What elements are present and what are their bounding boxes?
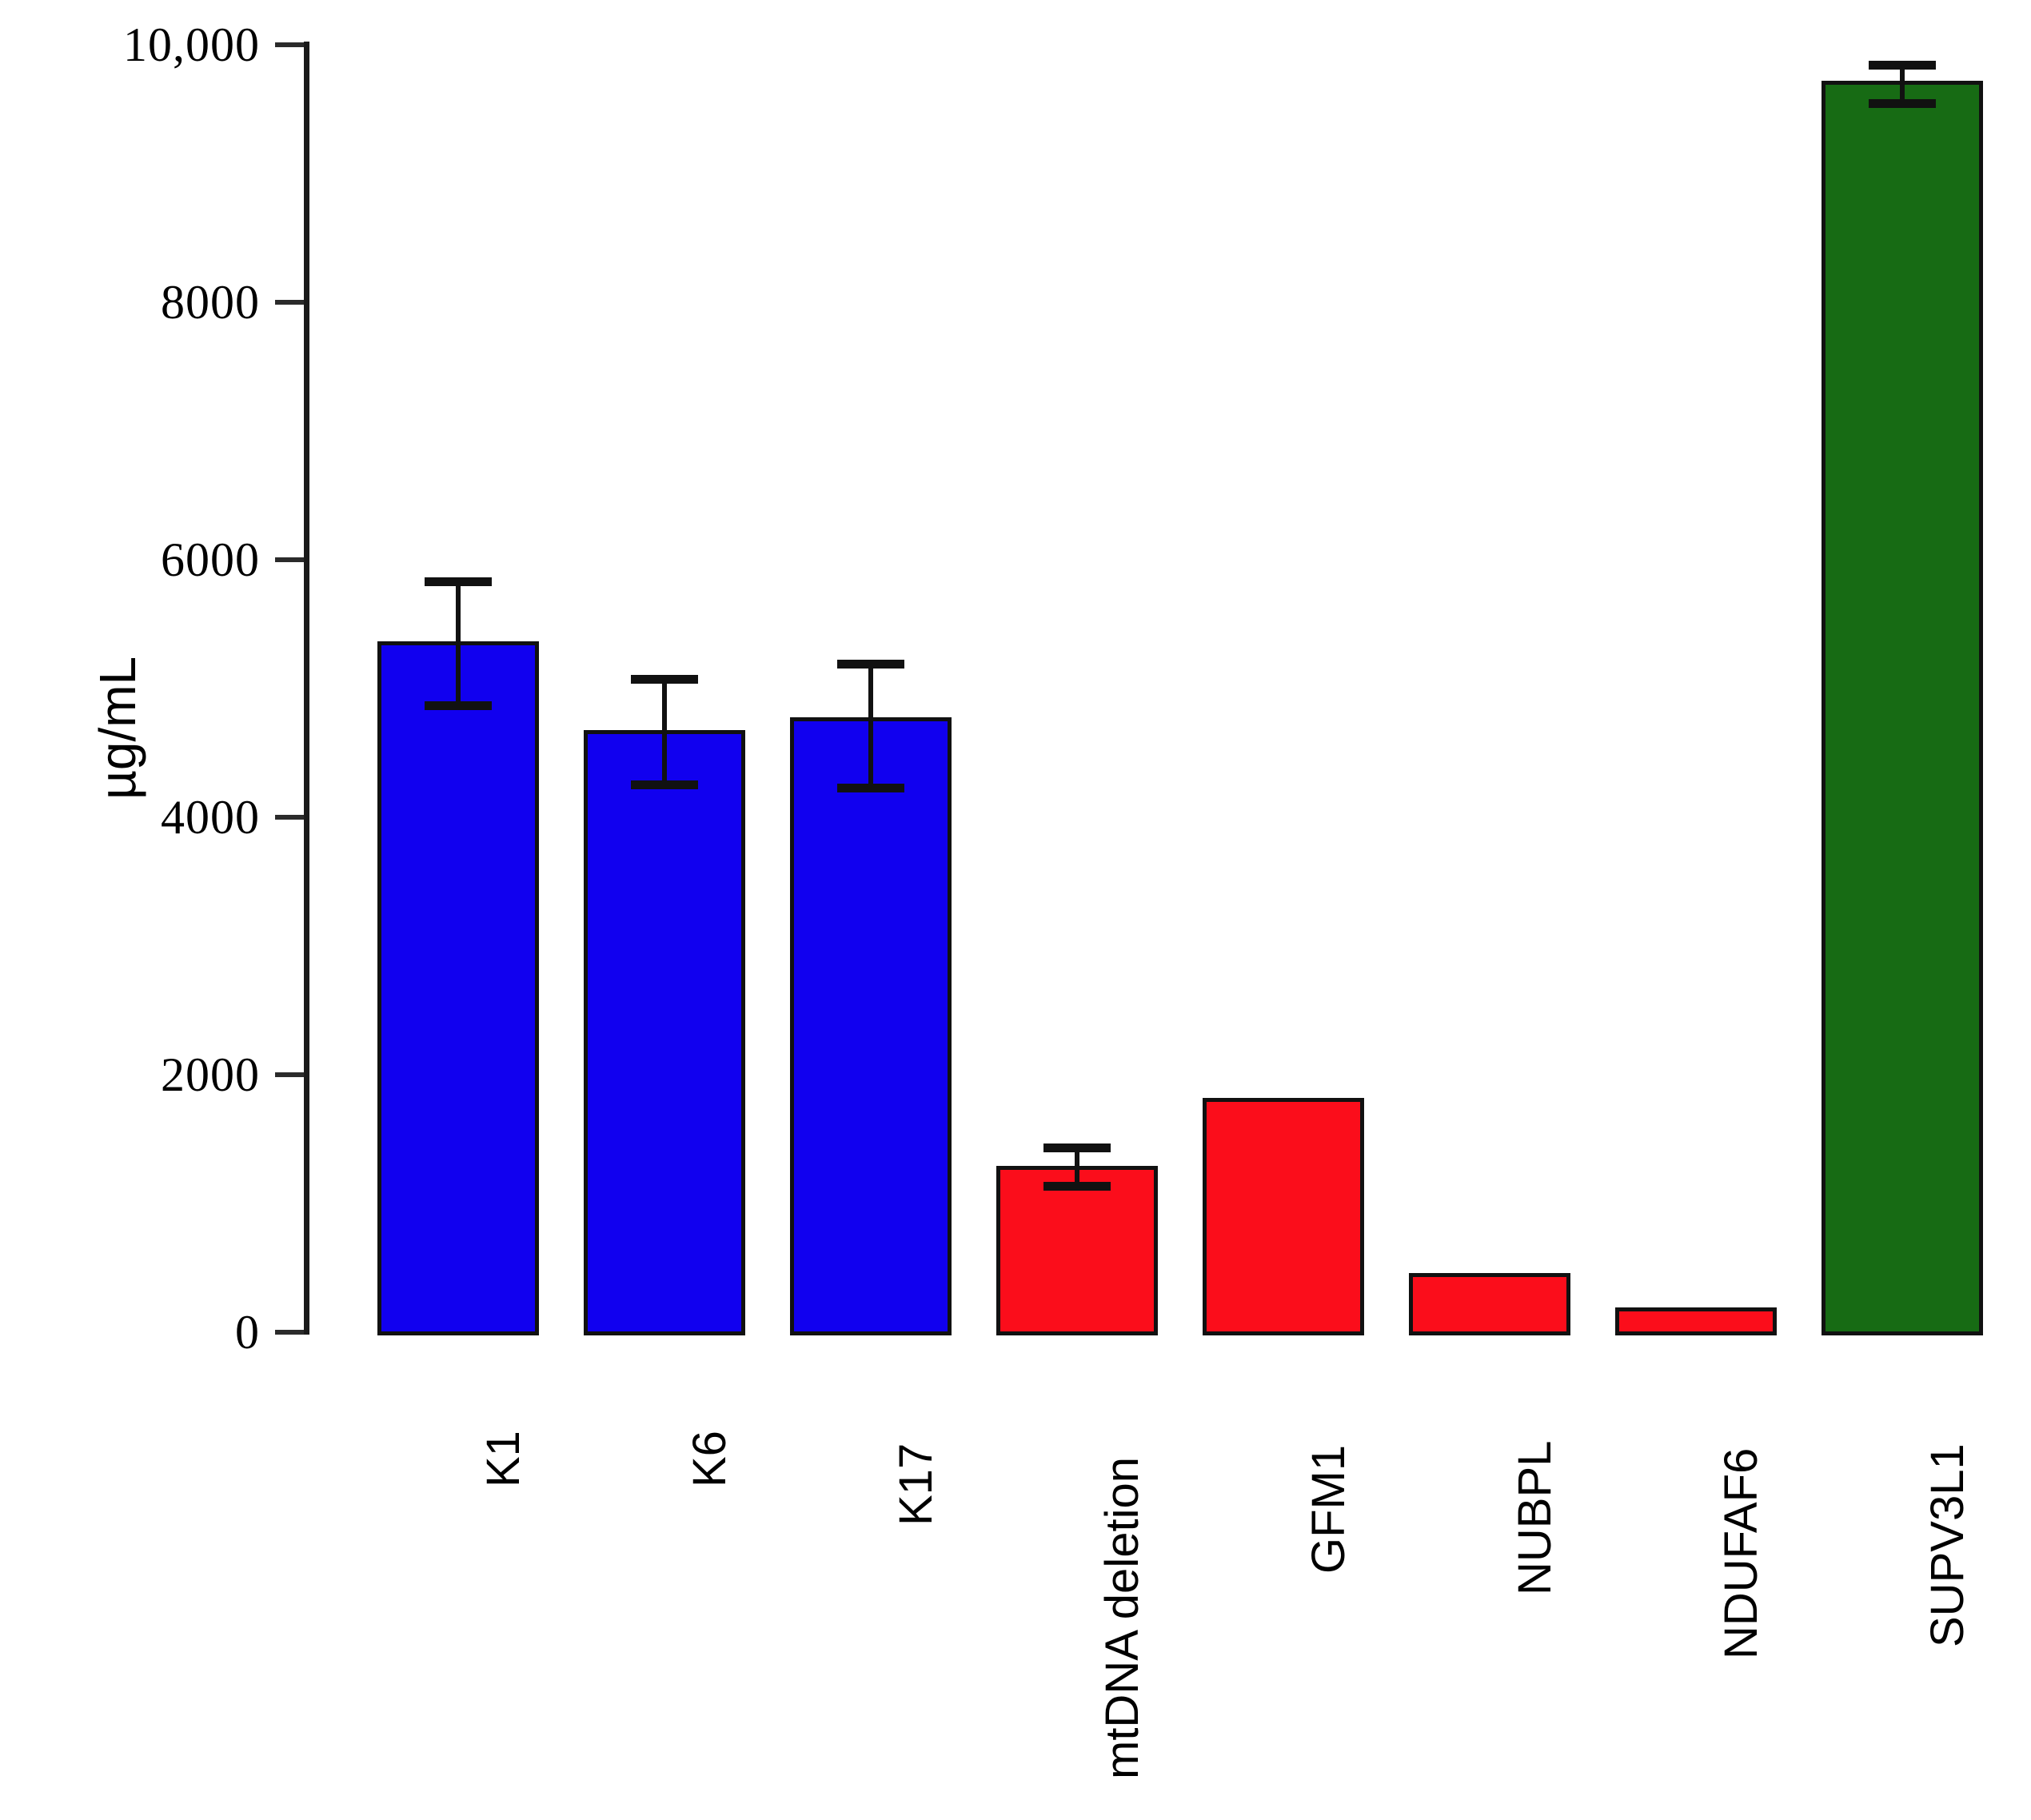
x-axis-label-supv3l1: SUPV3L1 [1921,1443,1974,1647]
error-bar-cap-upper-k17 [837,660,904,669]
bar-mtdna-deletion [996,1166,1158,1335]
y-axis-line [304,42,309,1335]
bar-chart: 10,000 8000 6000 4000 2000 0 µg/mL K1 K6… [0,0,2031,1820]
y-axis-tick-label-0: 0 [48,1305,260,1360]
error-bar-cap-upper-k6 [631,675,698,684]
y-axis-tick-4000 [275,815,304,820]
y-axis-title: µg/mL [88,657,147,800]
error-bar-stem-k17 [868,662,873,790]
bar-supv3l1 [1822,81,1983,1335]
error-bar-cap-lower-k17 [837,784,904,792]
y-axis-tick-label-6000: 6000 [48,533,260,588]
y-axis-tick-label-8000: 8000 [48,275,260,330]
error-bar-cap-lower-k6 [631,780,698,789]
error-bar-stem-k1 [456,580,461,708]
y-axis-tick-6000 [275,557,304,562]
x-axis-label-k1: K1 [477,1431,530,1487]
y-axis-tick-label-2000: 2000 [48,1048,260,1103]
x-axis-label-mtdna-deletion: mtDNA deletion [1095,1457,1149,1779]
x-axis-label-gfm1: GFM1 [1302,1445,1355,1574]
bar-ndufaf6 [1615,1307,1777,1335]
y-axis-tick-10000 [275,42,304,47]
error-bar-cap-lower-k1 [425,701,492,710]
y-axis-tick-label-4000: 4000 [48,790,260,845]
bar-k6 [584,730,745,1335]
bar-k1 [377,641,539,1335]
error-bar-cap-upper-mtdna-deletion [1043,1143,1111,1152]
error-bar-cap-upper-supv3l1 [1869,61,1936,70]
bar-nubpl [1409,1273,1570,1335]
x-axis-label-ndufaf6: NDUFAF6 [1714,1448,1768,1659]
y-axis-tick-2000 [275,1072,304,1077]
y-axis-tick-8000 [275,300,304,305]
x-axis-label-k6: K6 [683,1431,736,1487]
x-axis-label-nubpl: NUBPL [1508,1441,1562,1595]
error-bar-stem-k6 [662,677,667,787]
y-axis-tick-0 [275,1330,304,1335]
y-axis-tick-label-10000: 10,000 [48,18,260,73]
bar-gfm1 [1203,1098,1364,1335]
error-bar-cap-upper-k1 [425,577,492,586]
error-bar-cap-lower-mtdna-deletion [1043,1182,1111,1191]
x-axis-label-k17: K17 [889,1443,943,1526]
error-bar-cap-lower-supv3l1 [1869,99,1936,108]
bar-k17 [790,717,952,1335]
